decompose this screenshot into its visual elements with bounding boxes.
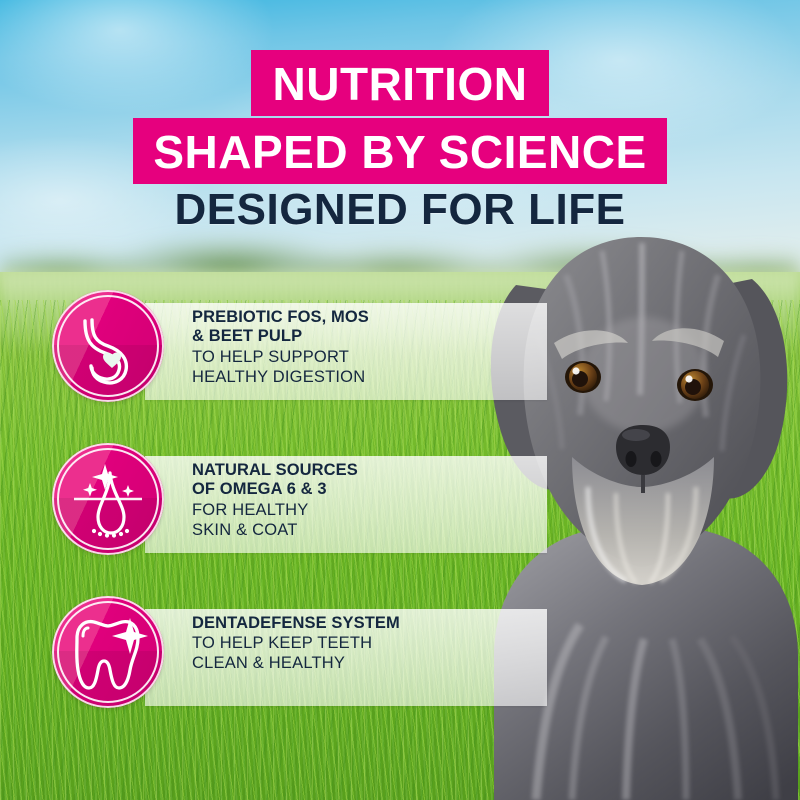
feature-subtitle: TO HELP KEEP TEETH CLEAN & HEALTHY [192,634,522,674]
feature-badge [52,290,164,402]
feature-text: DENTADEFENSE SYSTEM TO HELP KEEP TEETH C… [192,614,522,674]
headline-block: NUTRITION SHAPED BY SCIENCE DESIGNED FOR… [0,0,800,232]
feature-title: PREBIOTIC FOS, MOS & BEET PULP [192,308,522,347]
feature-subtitle: TO HELP SUPPORT HEALTHY DIGESTION [192,348,522,388]
feature-text: NATURAL SOURCES OF OMEGA 6 & 3 FOR HEALT… [192,461,522,541]
headline-line-3: DESIGNED FOR LIFE [175,188,626,232]
feature-badge [52,443,164,555]
feature-title: NATURAL SOURCES OF OMEGA 6 & 3 [192,461,522,500]
hair-follicle-sparkle-icon [52,443,164,555]
feature-title: DENTADEFENSE SYSTEM [192,614,522,633]
headline-line-1: NUTRITION [251,50,550,116]
feature-badge [52,596,164,708]
headline-line-2: SHAPED BY SCIENCE [133,118,666,184]
tooth-sparkle-icon [52,596,164,708]
feature-text: PREBIOTIC FOS, MOS & BEET PULP TO HELP S… [192,308,522,388]
feature-subtitle: FOR HEALTHY SKIN & COAT [192,501,522,541]
promo-banner: NUTRITION SHAPED BY SCIENCE DESIGNED FOR… [0,0,800,800]
stomach-heart-icon [52,290,164,402]
